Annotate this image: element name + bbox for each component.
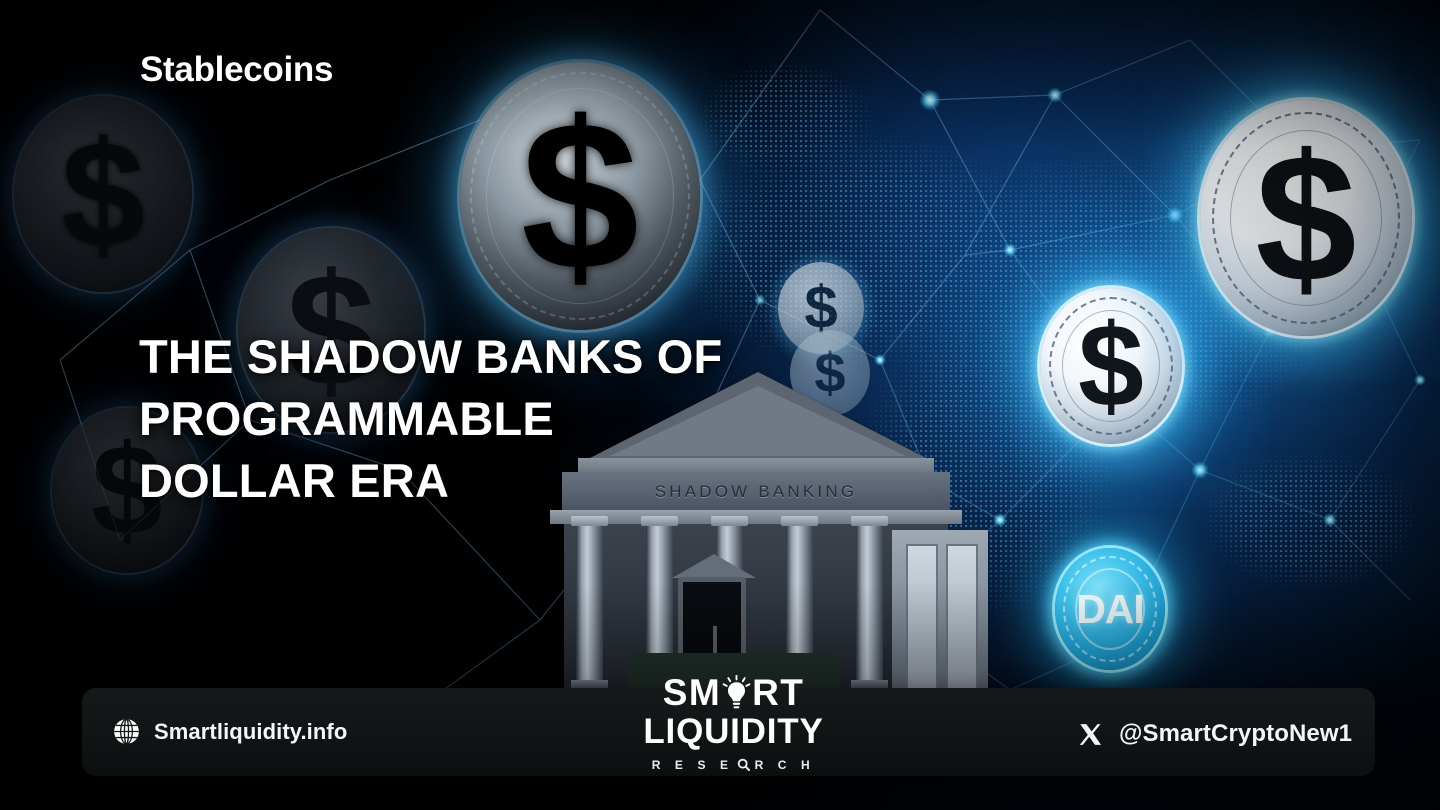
banner-stage: $ $ $ $ $ $ SHADOW BANKING: [0, 0, 1440, 810]
magnifier-icon: [737, 758, 750, 771]
brand-line3-right: R C H: [755, 759, 816, 771]
website-link[interactable]: Smartliquidity.info: [113, 718, 347, 745]
x-logo-icon: [1078, 722, 1103, 747]
brand-line-1: SM RT: [663, 674, 804, 711]
coin-mid-right: $: [1040, 288, 1182, 444]
coin-large-center: $: [460, 62, 700, 330]
smart-liquidity-logo[interactable]: SM RT LIQUIDITY R E S: [627, 668, 840, 776]
brand-line-2: LIQUIDITY: [643, 714, 823, 749]
dollar-glyph: $: [61, 119, 144, 269]
bank-column: [856, 524, 883, 689]
coin-dai: DAI: [1055, 548, 1165, 670]
globe-icon: [113, 718, 140, 745]
bank-column: [576, 524, 603, 689]
coin-dark-far-left: $: [14, 96, 192, 292]
headline-line-2: PROGRAMMABLE: [139, 388, 839, 450]
website-label: Smartliquidity.info: [154, 719, 347, 745]
kicker-label: Stablecoins: [140, 50, 333, 90]
headline-line-3: DOLLAR ERA: [139, 450, 839, 512]
brand-line3-left: R E S E: [652, 759, 734, 771]
headline-line-1: THE SHADOW BANKS OF: [139, 326, 839, 388]
lightbulb-icon: [722, 675, 751, 711]
coin-large-right: $: [1200, 100, 1412, 336]
x-handle-label: @SmartCryptoNew1: [1119, 720, 1352, 748]
brand-line-3: R E S E R C H: [652, 758, 816, 771]
social-handle[interactable]: @SmartCryptoNew1: [1078, 720, 1352, 748]
brand-line1-left: SM: [663, 674, 721, 711]
page-title: THE SHADOW BANKS OF PROGRAMMABLE DOLLAR …: [139, 326, 839, 512]
brand-line1-right: RT: [752, 674, 804, 711]
